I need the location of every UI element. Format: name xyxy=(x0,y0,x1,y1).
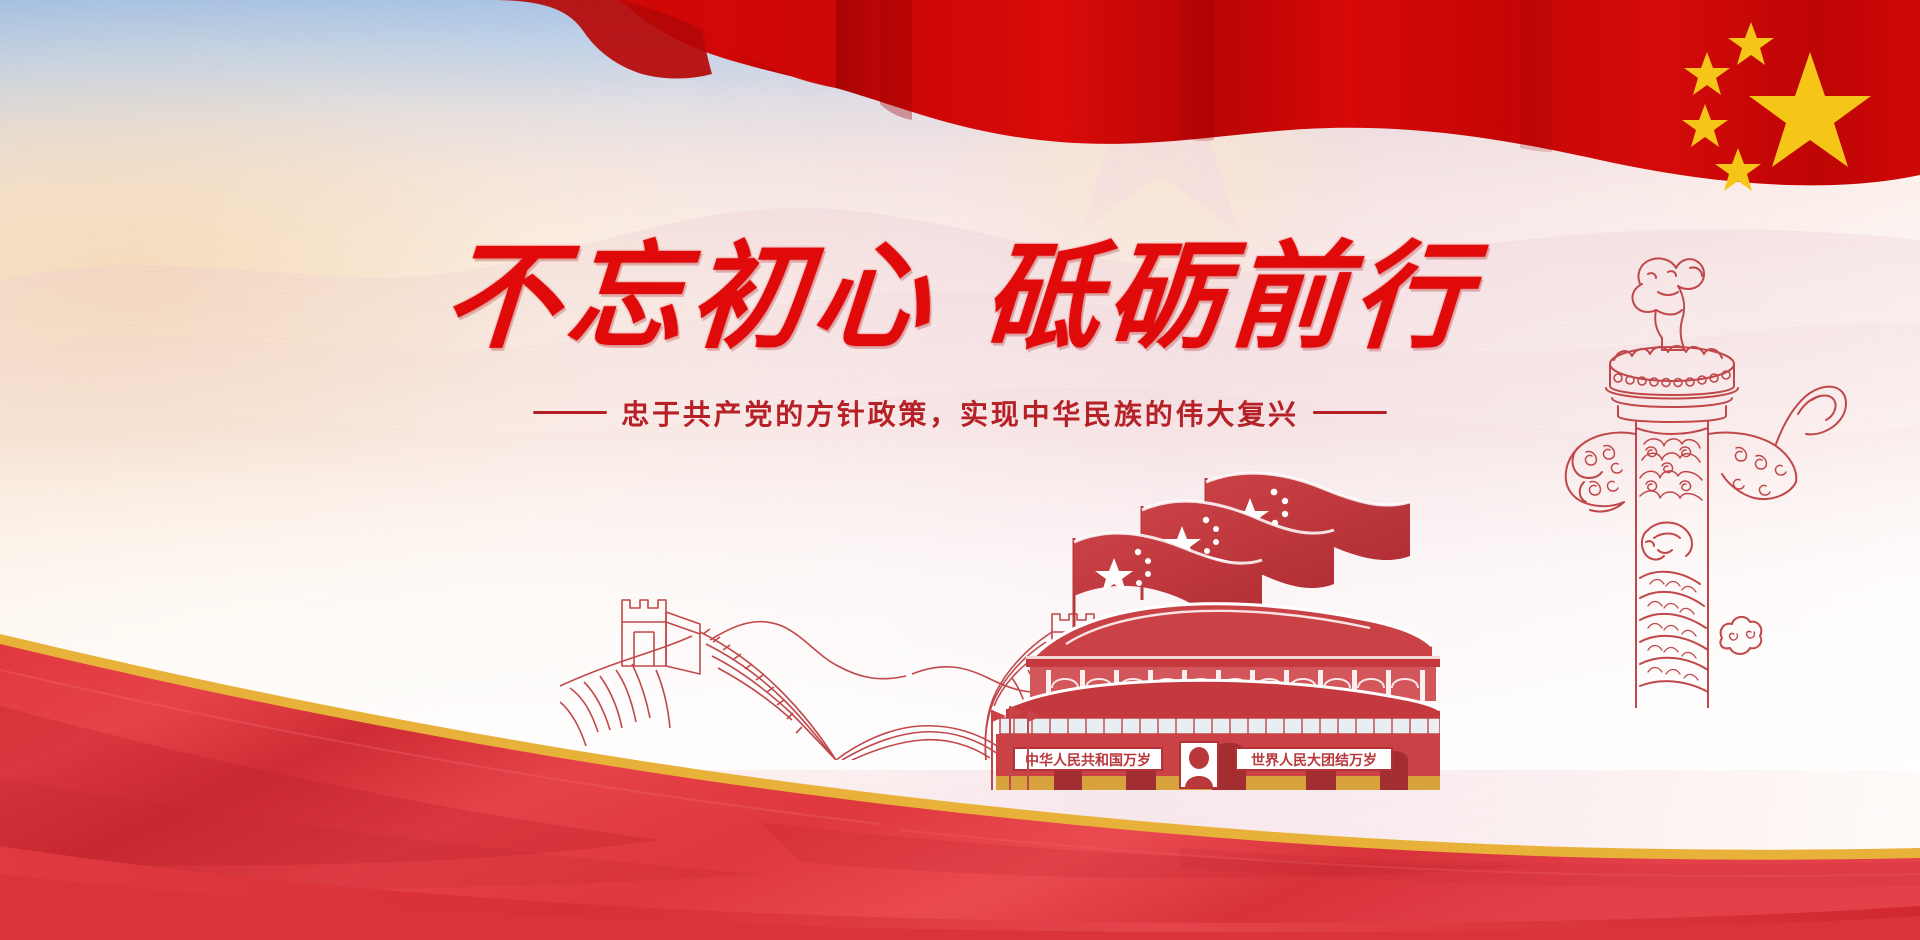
subtitle-text: 忠于共产党的方针政策，实现中华民族的伟大复兴 xyxy=(621,393,1299,433)
title-line-1: 不忘初心 xyxy=(439,229,940,365)
page-title: 不忘初心砥砺前行 xyxy=(440,236,1480,359)
poster-canvas: 不忘初心砥砺前行 忠于共产党的方针政策，实现中华民族的伟大复兴 xyxy=(0,0,1920,940)
top-waving-flag xyxy=(0,0,1920,230)
title-line-2: 砥砺前行 xyxy=(979,229,1480,365)
subtitle-rule-right xyxy=(1313,411,1387,414)
subtitle-rule-left xyxy=(533,411,607,414)
bottom-red-ribbon xyxy=(0,610,1920,940)
